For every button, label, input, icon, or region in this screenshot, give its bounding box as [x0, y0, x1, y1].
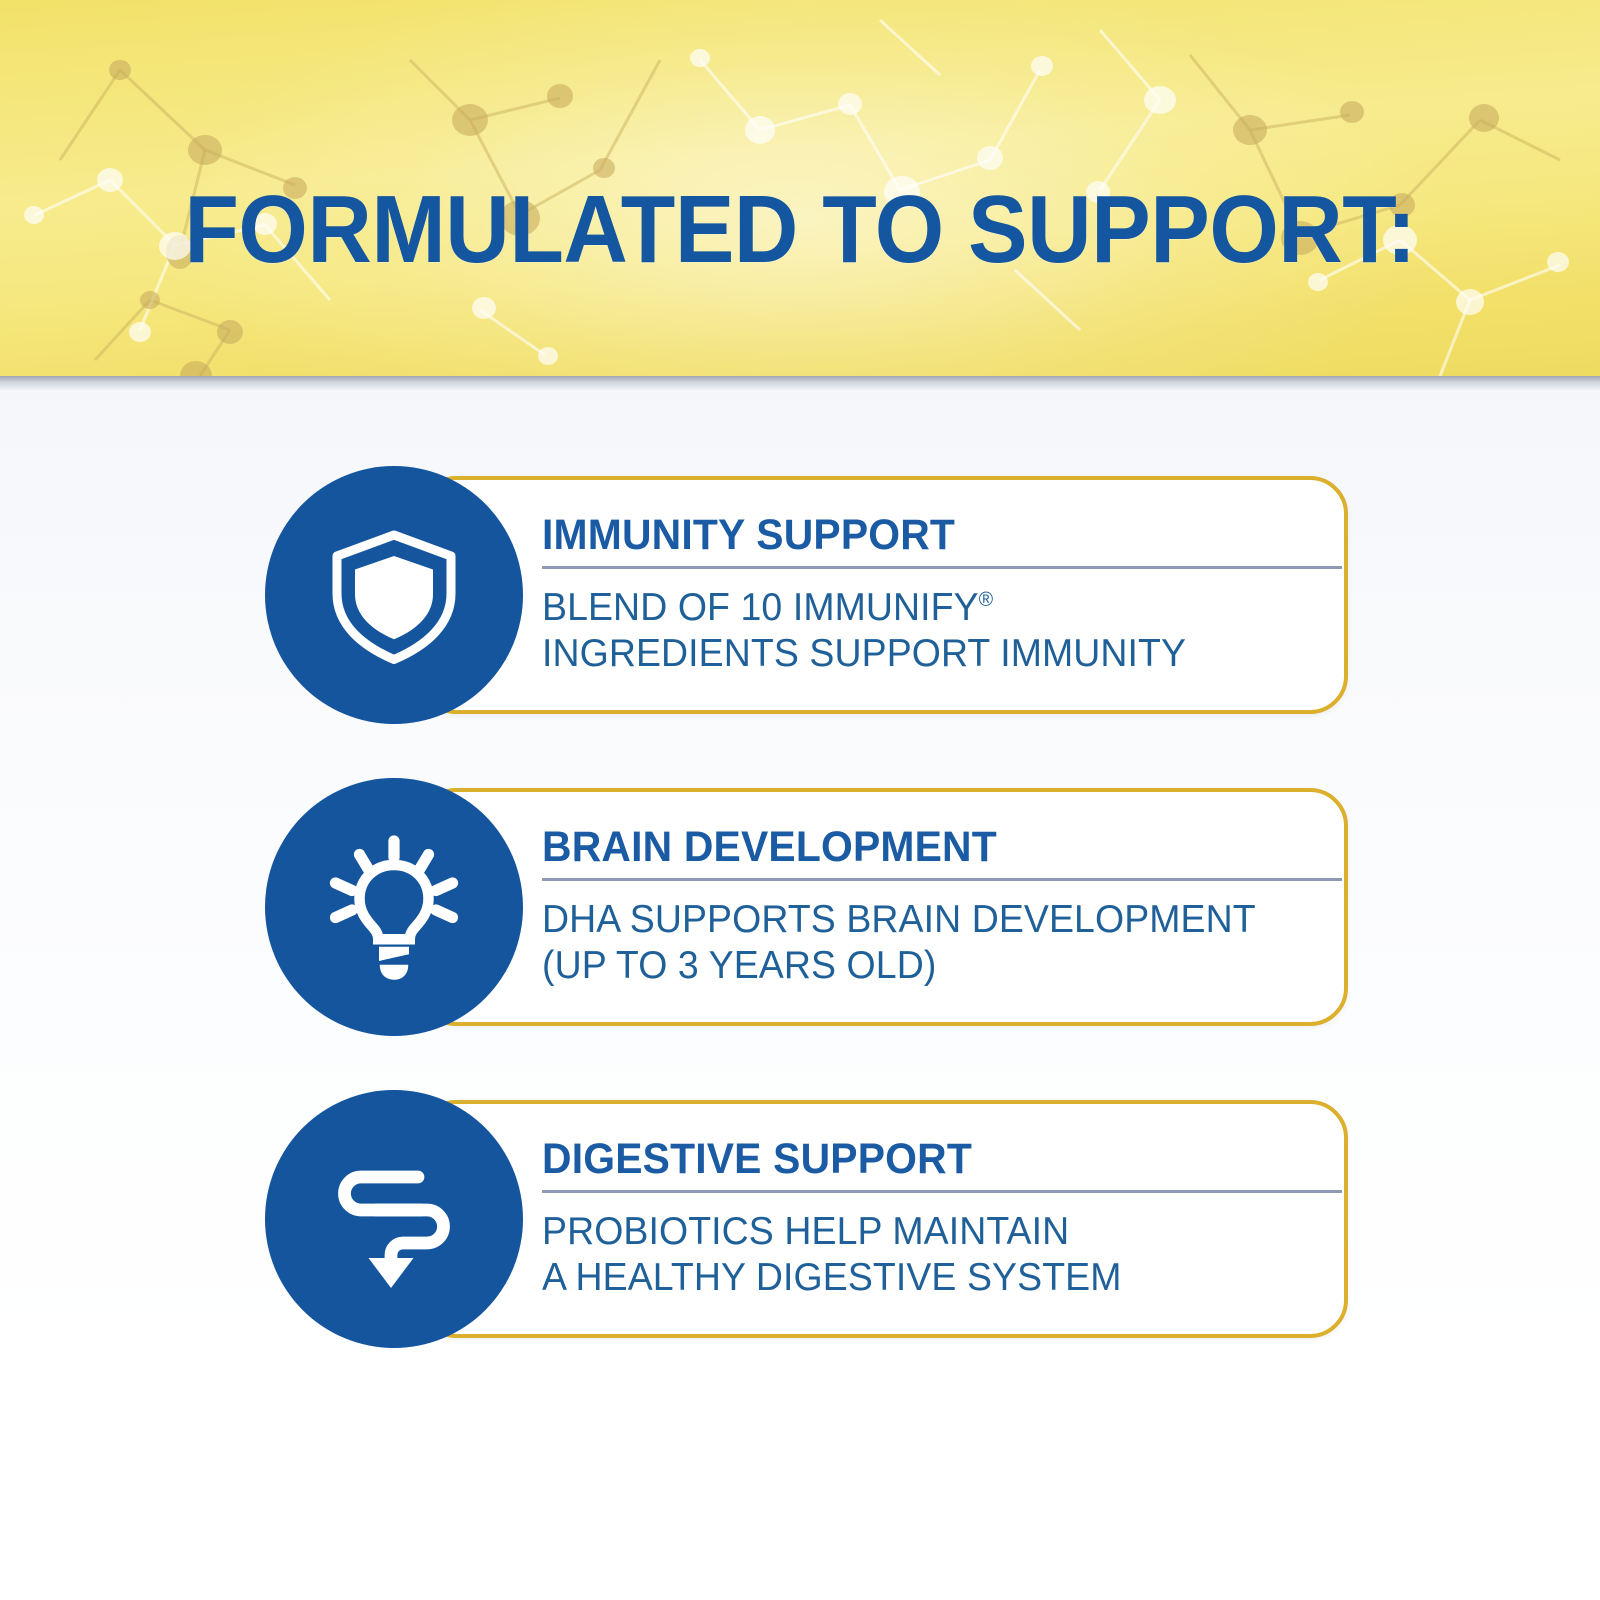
card-body-line-1: BLEND OF 10 IMMUNIFY [542, 586, 979, 629]
page-title: FORMULATED TO SUPPORT: [184, 182, 1415, 278]
card-body: PROBIOTICS HELP MAINTAINA HEALTHY DIGEST… [542, 1209, 1310, 1300]
benefit-card-digestive[interactable]: DIGESTIVE SUPPORT PROBIOTICS HELP MAINTA… [0, 1090, 1600, 1348]
card-body-line-1: PROBIOTICS HELP MAINTAIN [542, 1210, 1069, 1253]
heading-underline [542, 1190, 1342, 1193]
card-body-line-1: DHA SUPPORTS BRAIN DEVELOPMENT [542, 898, 1256, 941]
card-heading: BRAIN DEVELOPMENT [542, 826, 1302, 869]
card-text-block: DIGESTIVE SUPPORT PROBIOTICS HELP MAINTA… [542, 1090, 1342, 1348]
benefit-card-immunity[interactable]: IMMUNITY SUPPORT BLEND OF 10 IMMUNIFY®IN… [0, 466, 1600, 724]
intestine-icon [265, 1090, 523, 1348]
poster-root: FORMULATED TO SUPPORT: IMMUNITY SUPPORT [0, 0, 1600, 1600]
header-banner: FORMULATED TO SUPPORT: [0, 0, 1600, 376]
card-heading: IMMUNITY SUPPORT [542, 514, 1302, 557]
card-body-line-2: INGREDIENTS SUPPORT IMMUNITY [542, 632, 1186, 675]
heading-underline [542, 566, 1342, 569]
benefit-card-brain[interactable]: BRAIN DEVELOPMENT DHA SUPPORTS BRAIN DEV… [0, 778, 1600, 1036]
benefits-list: IMMUNITY SUPPORT BLEND OF 10 IMMUNIFY®IN… [0, 466, 1600, 1402]
card-body-line-2: A HEALTHY DIGESTIVE SYSTEM [542, 1256, 1122, 1299]
card-body: DHA SUPPORTS BRAIN DEVELOPMENT(UP TO 3 Y… [542, 897, 1310, 988]
card-heading: DIGESTIVE SUPPORT [542, 1138, 1302, 1181]
card-text-block: BRAIN DEVELOPMENT DHA SUPPORTS BRAIN DEV… [542, 778, 1342, 1036]
lightbulb-icon [265, 778, 523, 1036]
card-body: BLEND OF 10 IMMUNIFY®INGREDIENTS SUPPORT… [542, 585, 1310, 676]
header-title-container: FORMULATED TO SUPPORT: [0, 182, 1600, 278]
header-divider-shadow [0, 376, 1600, 390]
card-text-block: IMMUNITY SUPPORT BLEND OF 10 IMMUNIFY®IN… [542, 466, 1342, 724]
heading-underline [542, 878, 1342, 881]
registered-mark: ® [979, 589, 993, 611]
shield-icon [265, 466, 523, 724]
card-body-line-2: (UP TO 3 YEARS OLD) [542, 944, 936, 987]
